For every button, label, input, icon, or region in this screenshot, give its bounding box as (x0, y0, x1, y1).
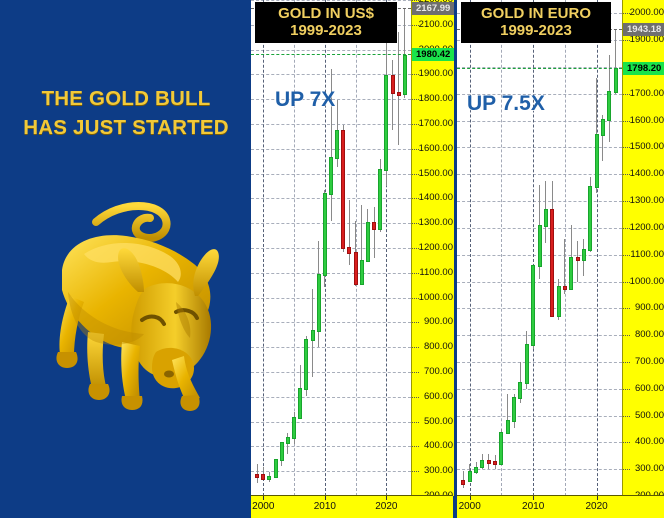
y-axis-tick-label: 300.00 (424, 466, 453, 476)
left-banner-panel: THE GOLD BULL HAS JUST STARTED (0, 0, 250, 518)
x-axis-tick-label: 2020 (585, 501, 607, 512)
y-axis-tick-label: 700.00 (635, 357, 664, 367)
candlestick-body (341, 130, 345, 249)
candlestick (391, 0, 395, 496)
y-axis-tick-label: 1500.00 (630, 142, 664, 152)
candlestick-body (372, 222, 376, 229)
candlestick-wick (392, 60, 393, 130)
candlestick-body (255, 474, 259, 478)
y-axis-tick-mark (412, 124, 419, 125)
y-axis-tick-mark (412, 397, 419, 398)
candlestick (550, 0, 554, 496)
headline-line-1: THE GOLD BULL (6, 84, 246, 113)
candlestick (378, 0, 382, 496)
candlestick (525, 0, 529, 496)
candlestick (311, 0, 315, 496)
candlestick-body (347, 247, 351, 254)
y-axis-tick-mark (623, 282, 630, 283)
x-axis-tick-label: 2000 (459, 501, 481, 512)
y-axis-tick-label: 1300.00 (630, 196, 664, 206)
candlestick-body (298, 388, 302, 419)
chart-title-line-1: GOLD IN US$ (261, 5, 391, 22)
candlestick (397, 0, 401, 496)
candlestick-body (569, 257, 573, 290)
candlestick (323, 0, 327, 496)
y-axis-tick-mark (412, 347, 419, 348)
price-marker-high: 2167.99 (411, 2, 454, 15)
annotation-up-multiple-eur: UP 7.5X (467, 92, 545, 116)
candlestick (372, 0, 376, 496)
candlestick-body (292, 417, 296, 439)
y-axis-tick-mark (412, 322, 419, 323)
y-axis-tick-mark (623, 335, 630, 336)
candlestick (480, 0, 484, 496)
y-axis-tick-mark (412, 422, 419, 423)
candlestick-body (557, 286, 561, 317)
y-axis-tick-label: 1600.00 (419, 144, 453, 154)
y-axis-tick-mark (623, 228, 630, 229)
candlestick-body (474, 467, 478, 474)
y-axis-tick-label: 1500.00 (419, 169, 453, 179)
poster-root: THE GOLD BULL HAS JUST STARTED (0, 0, 664, 518)
candlestick (601, 0, 605, 496)
candlestick-body (461, 480, 465, 485)
candlestick (329, 0, 333, 496)
candlestick (468, 0, 472, 496)
candlestick (341, 0, 345, 496)
y-axis-tick-mark (623, 442, 630, 443)
candlestick (582, 0, 586, 496)
chart-panel-gold-eur: 2000.001900.001800.001700.001600.001500.… (457, 0, 664, 518)
candlestick-body (366, 222, 370, 261)
y-axis-tick-mark (412, 372, 419, 373)
y-axis-tick-label: 700.00 (424, 367, 453, 377)
candlestick-body (614, 68, 618, 94)
y-axis-tick-mark (412, 149, 419, 150)
x-axis-tick-label: 2000 (252, 501, 274, 512)
y-axis-tick-label: 400.00 (635, 437, 664, 447)
y-axis-tick-mark (412, 223, 419, 224)
price-marker-last: 1980.42 (411, 48, 454, 61)
candlestick (487, 0, 491, 496)
candlestick-body (378, 169, 382, 229)
candlestick-body (595, 134, 599, 188)
y-axis-tick-mark (623, 416, 630, 417)
candlestick (267, 0, 271, 496)
y-axis-tick-label: 600.00 (424, 392, 453, 402)
y-axis-tick-label: 800.00 (424, 342, 453, 352)
candlestick-body (311, 330, 315, 341)
candlestick-body (323, 193, 327, 276)
y-axis-tick-label: 900.00 (635, 303, 664, 313)
candlestick-body (274, 459, 278, 478)
candlestick-body (384, 75, 388, 171)
y-axis-tick-mark (412, 198, 419, 199)
candlestick (576, 0, 580, 496)
y-axis-tick-mark (412, 74, 419, 75)
candlestick-body (468, 471, 472, 482)
candlestick-wick (374, 207, 375, 258)
candlestick-body (601, 119, 605, 136)
page-title: THE GOLD BULL HAS JUST STARTED (6, 84, 246, 142)
candlestick (474, 0, 478, 496)
y-axis-tick-label: 1000.00 (419, 293, 453, 303)
candlestick-body (582, 249, 586, 260)
candlestick (347, 0, 351, 496)
x-axis-tick-mark (325, 496, 326, 500)
y-axis-tick-label: 800.00 (635, 330, 664, 340)
candlestick (286, 0, 290, 496)
candlestick (557, 0, 561, 496)
y-axis-tick-mark (412, 99, 419, 100)
candlestick-wick (577, 241, 578, 281)
candlestick-body (403, 55, 407, 96)
y-axis-tick-label: 1600.00 (630, 116, 664, 126)
y-axis-tick-label: 1700.00 (419, 119, 453, 129)
candlestick-body (304, 339, 308, 390)
candlestick-body (544, 209, 548, 228)
plot-area-gold-usd[interactable] (251, 0, 411, 496)
y-axis-tick-label: 300.00 (635, 464, 664, 474)
chart-panel-gold-usd: 2200.002100.002000.001900.001800.001700.… (251, 0, 453, 518)
candlestick (588, 0, 592, 496)
candlestick-body (261, 474, 265, 480)
candlestick-body (499, 432, 503, 465)
y-axis-tick-mark (623, 308, 630, 309)
y-axis-tick-label: 1100.00 (630, 250, 664, 260)
y-axis-tick-label: 500.00 (635, 411, 664, 421)
time-axis-gold-eur[interactable]: 200020102020 (457, 495, 664, 518)
candlestick-wick (398, 32, 399, 145)
candlestick (335, 0, 339, 496)
headline-line-2: HAS JUST STARTED (6, 113, 246, 142)
candlestick (461, 0, 465, 496)
candlestick-body (480, 460, 484, 468)
candlestick (506, 0, 510, 496)
y-axis-tick-label: 1700.00 (630, 89, 664, 99)
candlestick (569, 0, 573, 496)
candlestick-body (397, 92, 401, 96)
candlestick (274, 0, 278, 496)
chart-title-gold-eur: GOLD IN EURO 1999-2023 (461, 2, 611, 43)
candlestick-body (267, 476, 271, 480)
candlestick-body (280, 442, 284, 461)
candlestick (304, 0, 308, 496)
chart-title-line-2: 1999-2023 (261, 22, 391, 39)
y-axis-tick-mark (623, 147, 630, 148)
candlestick-body (576, 257, 580, 261)
candlestick (366, 0, 370, 496)
y-axis-tick-mark (623, 121, 630, 122)
y-axis-tick-label: 1200.00 (630, 223, 664, 233)
candlestick (607, 0, 611, 496)
candlestick-body (588, 186, 592, 251)
candlestick (614, 0, 618, 496)
candlestick-body (525, 344, 529, 384)
candlestick (499, 0, 503, 496)
y-axis-tick-label: 1900.00 (419, 69, 453, 79)
chart-title-gold-usd: GOLD IN US$ 1999-2023 (255, 2, 397, 43)
candlestick (317, 0, 321, 496)
candlestick (595, 0, 599, 496)
y-axis-tick-label: 1100.00 (419, 268, 453, 278)
candlestick (563, 0, 567, 496)
candlestick-body (286, 437, 290, 444)
y-axis-tick-mark (412, 25, 419, 26)
time-axis-gold-usd[interactable]: 200020102020 (251, 495, 453, 518)
y-axis-tick-mark (623, 13, 630, 14)
y-axis-tick-mark (412, 471, 419, 472)
chart-title-line-2: 1999-2023 (467, 22, 605, 39)
y-axis-tick-label: 2000.00 (630, 8, 664, 18)
price-level-line (251, 54, 411, 55)
chart-title-line-1: GOLD IN EURO (467, 5, 605, 22)
y-axis-tick-mark (623, 469, 630, 470)
candlestick (544, 0, 548, 496)
price-level-line (457, 68, 622, 69)
y-axis-tick-mark (623, 362, 630, 363)
candlestick (512, 0, 516, 496)
candlestick-body (391, 75, 395, 94)
price-marker-high: 1943.18 (622, 23, 664, 36)
candlestick (292, 0, 296, 496)
y-axis-tick-mark (412, 446, 419, 447)
candlestick-body (518, 382, 522, 399)
y-axis-tick-label: 1800.00 (419, 94, 453, 104)
candlestick (280, 0, 284, 496)
candlestick-body (512, 397, 516, 422)
candlestick-body (550, 209, 554, 317)
x-axis-tick-mark (533, 496, 534, 500)
candlestick-body (360, 260, 364, 285)
y-axis-tick-mark (412, 0, 419, 1)
y-axis-tick-mark (412, 174, 419, 175)
candlestick (261, 0, 265, 496)
candlestick (531, 0, 535, 496)
candlestick (255, 0, 259, 496)
price-axis-gold-eur[interactable]: 2000.001900.001800.001700.001600.001500.… (622, 0, 664, 496)
candlestick-wick (349, 200, 350, 265)
price-axis-gold-usd[interactable]: 2200.002100.002000.001900.001800.001700.… (411, 0, 454, 496)
y-axis-tick-label: 1400.00 (419, 193, 453, 203)
plot-area-gold-eur[interactable] (457, 0, 622, 496)
candlestick (354, 0, 358, 496)
candlestick (298, 0, 302, 496)
x-axis-tick-mark (386, 496, 387, 500)
y-axis-tick-label: 1900.00 (630, 35, 664, 45)
candlestick-body (335, 130, 339, 159)
y-axis-tick-mark (412, 298, 419, 299)
candlestick-body (538, 225, 542, 267)
price-marker-last: 1798.20 (622, 62, 664, 75)
x-axis-tick-label: 2010 (314, 501, 336, 512)
candlestick-body (487, 460, 491, 464)
candlestick (518, 0, 522, 496)
y-axis-tick-mark (623, 174, 630, 175)
candlestick-body (563, 286, 567, 291)
candlestick-body (354, 252, 358, 285)
candlestick (493, 0, 497, 496)
y-axis-tick-label: 600.00 (635, 384, 664, 394)
y-axis-tick-label: 900.00 (424, 317, 453, 327)
y-axis-tick-label: 500.00 (424, 417, 453, 427)
y-axis-tick-mark (623, 201, 630, 202)
y-axis-tick-mark (623, 255, 630, 256)
y-axis-tick-label: 1400.00 (630, 169, 664, 179)
y-axis-tick-label: 1000.00 (630, 277, 664, 287)
y-axis-tick-label: 2100.00 (419, 20, 453, 30)
candlestick (538, 0, 542, 496)
y-axis-tick-label: 1200.00 (419, 243, 453, 253)
x-axis-tick-label: 2020 (375, 501, 397, 512)
candlestick-body (317, 274, 321, 332)
y-axis-tick-mark (623, 40, 630, 41)
candlestick-body (607, 91, 611, 121)
candlestick-body (329, 157, 333, 195)
y-axis-tick-mark (623, 94, 630, 95)
candlestick (360, 0, 364, 496)
annotation-up-multiple-usd: UP 7X (275, 88, 335, 112)
y-axis-tick-label: 400.00 (424, 441, 453, 451)
x-axis-tick-label: 2010 (522, 501, 544, 512)
y-axis-tick-label: 1300.00 (419, 218, 453, 228)
x-axis-tick-mark (263, 496, 264, 500)
x-axis-tick-mark (470, 496, 471, 500)
candlestick-body (531, 265, 535, 346)
candlestick-body (506, 420, 510, 434)
candlestick-body (493, 461, 497, 465)
y-axis-tick-mark (412, 248, 419, 249)
charging-bull-icon (26, 192, 256, 422)
y-axis-tick-mark (412, 273, 419, 274)
candlestick (403, 0, 407, 496)
y-axis-tick-mark (623, 389, 630, 390)
candlestick (384, 0, 388, 496)
x-axis-tick-mark (597, 496, 598, 500)
